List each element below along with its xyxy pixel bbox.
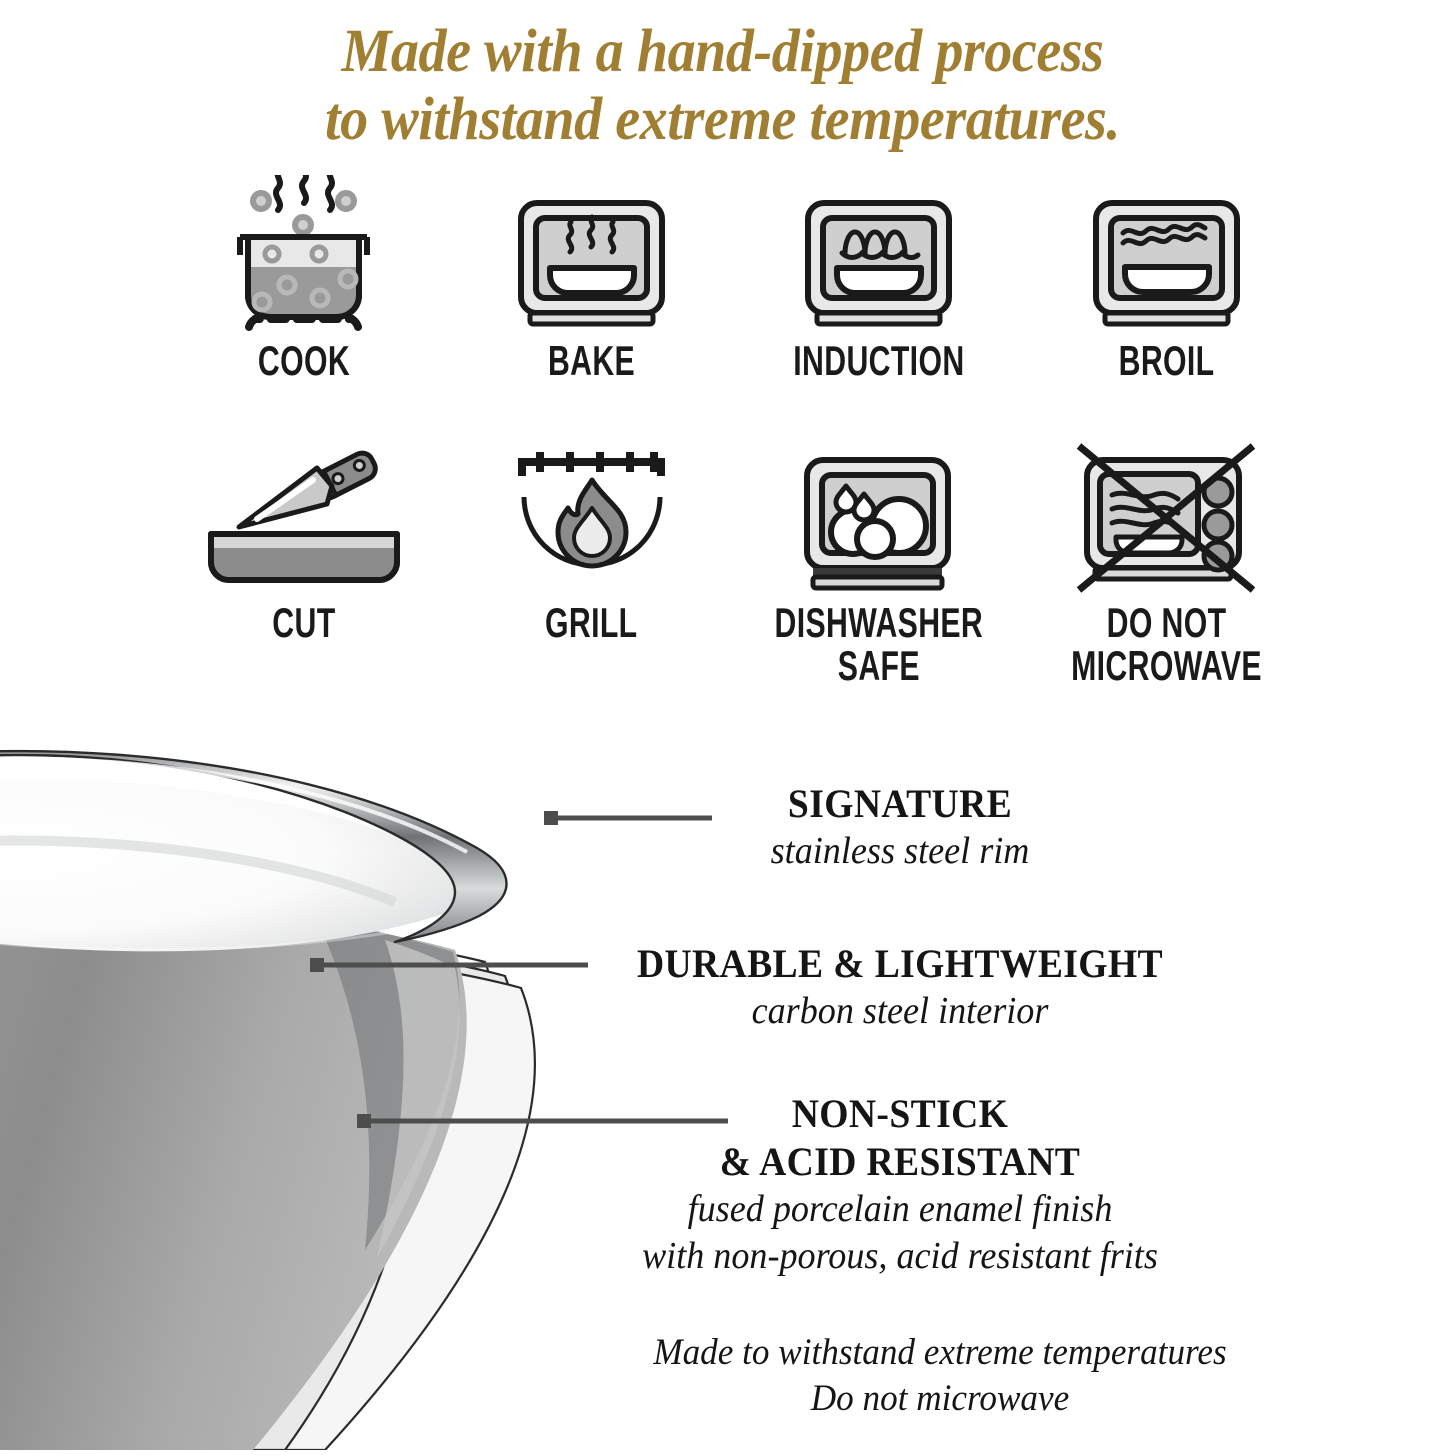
- do-not-microwave-icon: [1071, 442, 1261, 597]
- icon-label-induction: INDUCTION: [793, 339, 964, 382]
- callout-signature-title: SIGNATURE: [637, 780, 1163, 828]
- callout-nonstick-subtitle-line-2: with non-porous, acid resistant frits: [549, 1233, 1252, 1280]
- cook-icon: [216, 175, 391, 335]
- cut-icon: [199, 442, 409, 597]
- icon-row-1: COOK BA: [160, 175, 1310, 382]
- dishwasher-safe-icon: [791, 442, 966, 597]
- icon-label-dishwasher-line-2: SAFE: [774, 644, 983, 687]
- callout-durable-title: DURABLE & LIGHTWEIGHT: [529, 940, 1272, 988]
- callout-durable-subtitle: carbon steel interior: [525, 988, 1276, 1035]
- bake-icon: [504, 175, 679, 335]
- grill-icon: [504, 442, 679, 597]
- callout-durable: DURABLE & LIGHTWEIGHT carbon steel inter…: [505, 940, 1295, 1035]
- icon-cell-induction: INDUCTION: [735, 175, 1023, 382]
- icon-label-microwave-line-1: DO NOT: [1106, 599, 1226, 646]
- headline-line-1: Made with a hand-dipped process: [341, 18, 1103, 85]
- callout-nonstick-subtitle: fused porcelain enamel finish with non-p…: [549, 1186, 1252, 1280]
- headline-line-2: to withstand extreme temperatures.: [58, 86, 1387, 154]
- page-title: Made with a hand-dipped process to withs…: [58, 18, 1387, 154]
- induction-icon: [791, 175, 966, 335]
- callout-nonstick-title-line-2: & ACID RESISTANT: [552, 1138, 1248, 1186]
- icon-label-microwave-line-2: MICROWAVE: [1071, 644, 1262, 687]
- callout-signature: SIGNATURE stainless steel rim: [620, 780, 1180, 875]
- icon-cell-cook: COOK: [160, 175, 448, 382]
- callout-nonstick: NON-STICK & ACID RESISTANT fused porcela…: [530, 1090, 1270, 1280]
- broil-icon: [1079, 175, 1254, 335]
- icon-cell-bake: BAKE: [448, 175, 736, 382]
- footnote-line-1: Made to withstand extreme temperatures: [653, 1332, 1226, 1373]
- icon-label-dishwasher-safe: DISHWASHER SAFE: [774, 601, 983, 687]
- callout-signature-subtitle: stainless steel rim: [634, 828, 1166, 875]
- callout-nonstick-title-line-1: NON-STICK: [792, 1091, 1008, 1136]
- icon-cell-do-not-microwave: DO NOT MICROWAVE: [1023, 442, 1311, 687]
- icon-label-bake: BAKE: [548, 339, 635, 382]
- icon-label-dishwasher-line-1: DISHWASHER: [774, 599, 983, 646]
- icon-label-broil: BROIL: [1118, 339, 1214, 382]
- footnote-line-2: Do not microwave: [579, 1376, 1301, 1422]
- icon-cell-broil: BROIL: [1023, 175, 1311, 382]
- icon-label-do-not-microwave: DO NOT MICROWAVE: [1071, 601, 1262, 687]
- icon-cell-dishwasher-safe: DISHWASHER SAFE: [735, 442, 1023, 687]
- callout-nonstick-subtitle-line-1: fused porcelain enamel finish: [688, 1188, 1113, 1230]
- footnote: Made to withstand extreme temperatures D…: [579, 1330, 1301, 1422]
- infographic-page: Made with a hand-dipped process to withs…: [0, 0, 1445, 1445]
- icon-label-cook: COOK: [258, 339, 350, 382]
- callout-nonstick-title: NON-STICK & ACID RESISTANT: [552, 1090, 1248, 1186]
